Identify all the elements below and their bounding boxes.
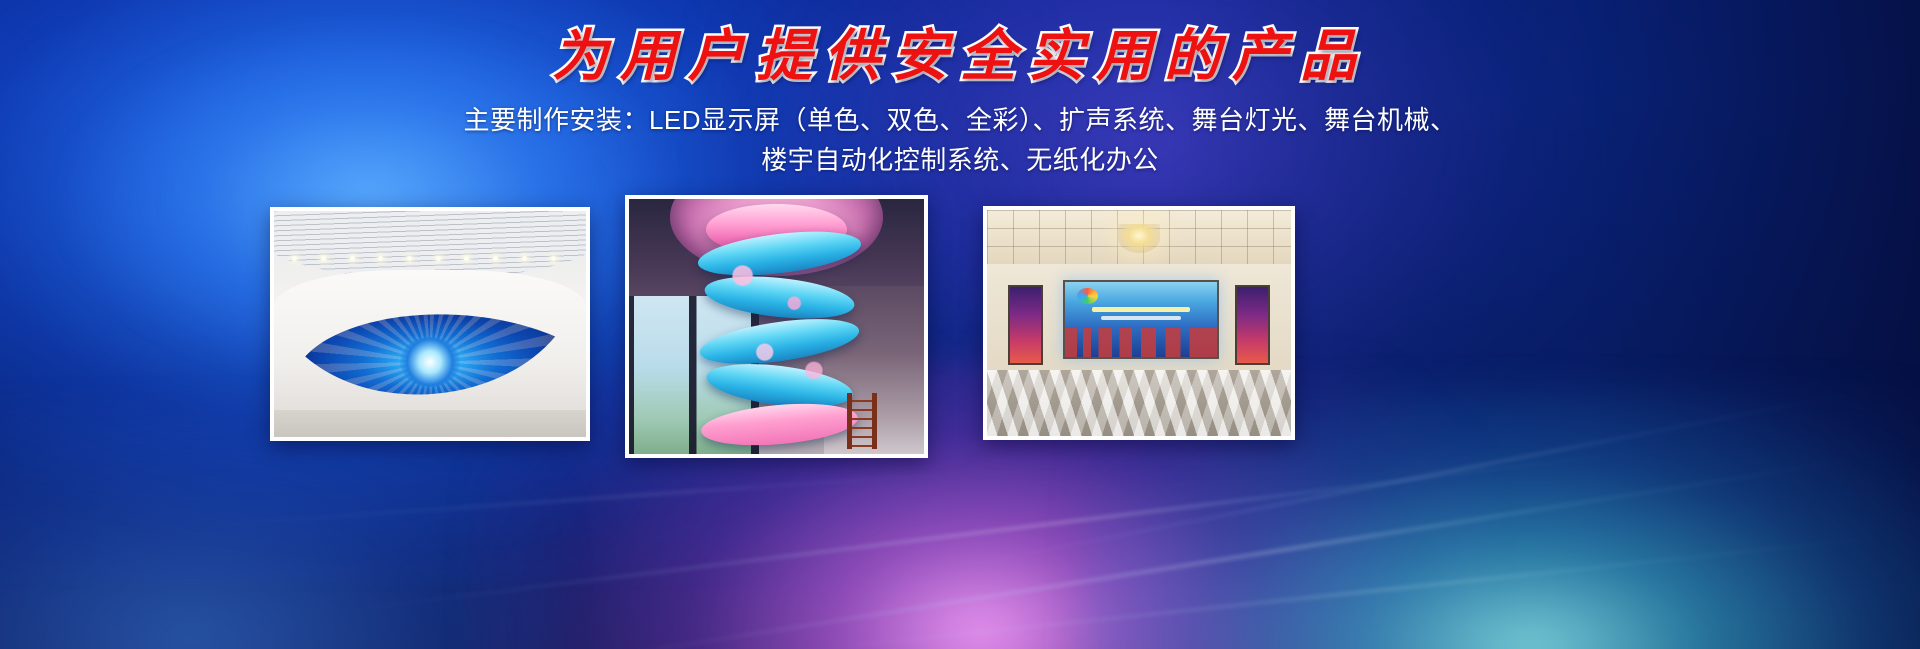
photo-eye-shaped-led-display (274, 211, 586, 437)
screen-subtext-bar (1101, 316, 1180, 320)
gallery-card-spiral-led-ribbon-display[interactable] (625, 195, 928, 458)
banner-content: 为用户提供安全实用的产品 主要制作安装：LED显示屏（单色、双色、全彩）、扩声系… (0, 0, 1920, 649)
screen-headline-bar (1092, 307, 1189, 311)
ceiling-slats (274, 211, 586, 279)
banner-subtitle: 主要制作安装：LED显示屏（单色、双色、全彩）、扩声系统、舞台灯光、舞台机械、 … (0, 100, 1920, 180)
company-logo-on-screen (1077, 288, 1098, 304)
chandelier (1118, 224, 1161, 253)
skyline-graphic (1065, 328, 1217, 356)
subtitle-line-1: 主要制作安装：LED显示屏（单色、双色、全彩）、扩声系统、舞台灯光、舞台机械、 (0, 100, 1920, 140)
side-led-banner-left (1008, 285, 1042, 366)
project-photo-gallery (0, 190, 1920, 470)
gallery-card-eye-shaped-led-display[interactable] (270, 207, 590, 441)
showroom-floor (274, 410, 586, 437)
side-led-banner-right (1235, 285, 1269, 366)
stage-led-screen (1063, 280, 1219, 359)
photo-conference-hall-led-screen (987, 210, 1291, 436)
ribbon-segment (699, 398, 859, 451)
subtitle-line-2: 楼宇自动化控制系统、无纸化办公 (0, 140, 1920, 180)
gallery-card-conference-hall-led-screen[interactable] (983, 206, 1295, 440)
banner-headline: 为用户提供安全实用的产品 (0, 24, 1920, 88)
promo-banner: 为用户提供安全实用的产品 主要制作安装：LED显示屏（单色、双色、全彩）、扩声系… (0, 0, 1920, 649)
blossom-graphics (718, 245, 842, 398)
step-ladder (847, 393, 877, 449)
ceiling-lights (286, 256, 573, 264)
marble-floor (987, 370, 1291, 436)
photo-spiral-led-ribbon-display (629, 199, 924, 454)
